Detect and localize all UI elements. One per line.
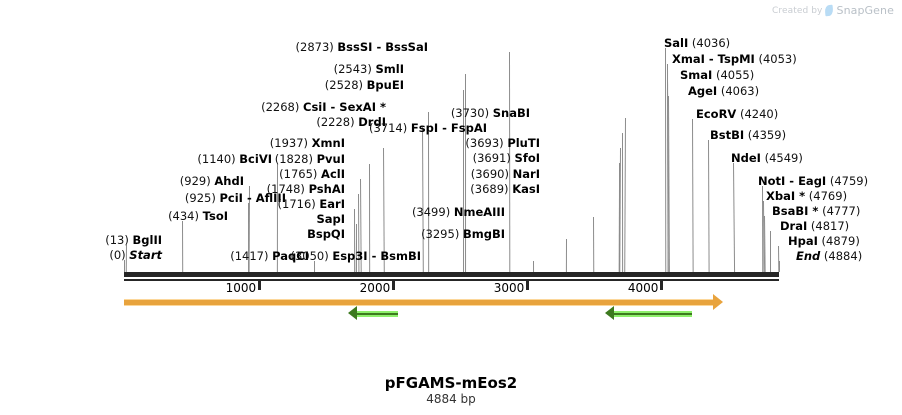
site-position: (3691) — [473, 151, 515, 165]
ruler-tick — [258, 281, 261, 290]
site-position: (4063) — [717, 84, 759, 98]
site-position: (4359) — [744, 128, 786, 142]
restriction-site-label[interactable]: BsaBI * (4777) — [772, 205, 860, 217]
watermark-prefix: Created by — [772, 6, 823, 16]
site-position: (3693) — [465, 136, 507, 150]
enzyme-name: AgeI — [688, 84, 717, 98]
leader-line — [708, 140, 710, 272]
enzyme-name: BpuEI — [367, 78, 404, 92]
restriction-site-label[interactable]: XmaI - TspMI (4053) — [672, 53, 797, 65]
restriction-site-label[interactable]: DraI (4817) — [780, 220, 849, 232]
enzyme-name: BssSI - BssSaI — [337, 40, 428, 54]
watermark-brand: SnapGene — [836, 4, 894, 17]
site-position: (3690) — [471, 167, 513, 181]
restriction-site-label[interactable]: NdeI (4549) — [731, 152, 803, 164]
ruler-tick-label: 3000 — [494, 281, 527, 295]
enzyme-name: DraI — [780, 219, 807, 233]
ruler-tick — [526, 281, 529, 290]
enzyme-name: SalI — [664, 36, 688, 50]
site-position: (3050) — [290, 249, 332, 263]
enzyme-name: XmaI - TspMI — [672, 52, 755, 66]
enzyme-name: EcoRV — [696, 107, 736, 121]
enzyme-name: Esp3I - BsmBI — [332, 249, 421, 263]
restriction-site-label[interactable]: NotI - EagI (4759) — [758, 175, 868, 187]
leader-line — [779, 261, 780, 272]
snapgene-leaf-icon — [825, 5, 834, 17]
enzyme-name: SmlI — [376, 62, 405, 76]
restriction-site-label[interactable]: (2543) SmlI — [0, 63, 404, 75]
plasmid-map-canvas: Created by SnapGene (0) Start(13) BglII(… — [0, 0, 902, 415]
restriction-site-label[interactable]: (2528) BpuEI — [0, 79, 404, 91]
enzyme-name: PluTI — [507, 136, 540, 150]
enzyme-name: BstBI — [710, 128, 744, 142]
enzyme-name: NdeI — [731, 151, 761, 165]
restriction-site-label[interactable]: SmaI (4055) — [680, 69, 754, 81]
enzyme-name: NmeAIII — [454, 205, 505, 219]
restriction-site-label[interactable]: SalI (4036) — [664, 37, 730, 49]
snapgene-watermark: Created by SnapGene — [772, 4, 894, 17]
restriction-site-label[interactable]: (3295) BmgBI — [0, 228, 505, 240]
plasmid-size-label: 4884 bp — [0, 392, 902, 406]
leader-line — [533, 261, 534, 272]
site-position: (4879) — [818, 234, 860, 248]
leader-line — [624, 118, 626, 272]
restriction-site-label[interactable]: (3050) Esp3I - BsmBI — [0, 250, 421, 262]
page-title: pFGAMS-mEos2 — [0, 374, 902, 392]
restriction-site-label[interactable]: (3689) KasI — [0, 183, 540, 195]
site-position: (3714) — [369, 121, 411, 135]
leader-line — [619, 148, 621, 272]
restriction-site-label[interactable]: XbaI * (4769) — [766, 190, 847, 202]
enzyme-name: SnaBI — [493, 106, 530, 120]
enzyme-name: XbaI * — [766, 189, 805, 203]
leader-line — [622, 133, 623, 272]
site-position: (3689) — [470, 182, 512, 196]
restriction-site-label[interactable]: BstBI (4359) — [710, 129, 786, 141]
ruler-tick — [392, 281, 395, 290]
enzyme-name: End — [796, 249, 820, 263]
restriction-site-label[interactable]: End (4884) — [796, 250, 862, 262]
cds-feature-1-arrowhead — [348, 306, 357, 320]
sequence-backbone — [124, 272, 779, 277]
restriction-site-label[interactable]: (2873) BssSI - BssSaI — [0, 41, 428, 53]
ruler-baseline — [124, 279, 779, 281]
site-position: (4549) — [761, 151, 803, 165]
site-position: (4777) — [818, 204, 860, 218]
leader-line — [566, 239, 567, 272]
ruler-tick-label: 4000 — [628, 281, 661, 295]
site-position: (4055) — [712, 68, 754, 82]
site-position: (4759) — [826, 174, 868, 188]
site-position: (3499) — [412, 205, 454, 219]
enzyme-name: NarI — [513, 167, 540, 181]
restriction-site-label[interactable]: (3730) SnaBI — [0, 107, 530, 119]
ruler-tick — [660, 281, 663, 290]
restriction-site-label[interactable]: (3714) FspI - FspAI — [0, 122, 487, 134]
site-position: (4884) — [820, 249, 862, 263]
cds-feature-2-arrowhead — [605, 306, 614, 320]
leader-line — [668, 96, 670, 272]
leader-line — [733, 163, 735, 272]
leader-line — [692, 119, 694, 272]
restriction-site-label[interactable]: (3691) SfoI — [0, 152, 540, 164]
enzyme-name: BmgBI — [463, 227, 505, 241]
site-position: (4053) — [755, 52, 797, 66]
site-position: (3730) — [451, 106, 493, 120]
enzyme-name: FspI - FspAI — [411, 121, 487, 135]
ruler-tick-label: 1000 — [226, 281, 259, 295]
backbone-feature-arrowhead — [713, 294, 723, 310]
restriction-site-label[interactable]: HpaI (4879) — [788, 235, 860, 247]
enzyme-name: HpaI — [788, 234, 818, 248]
site-position: (4769) — [805, 189, 847, 203]
leader-line — [764, 216, 766, 272]
restriction-site-label[interactable]: (3499) NmeAIII — [0, 206, 505, 218]
site-position: (4240) — [736, 107, 778, 121]
site-position: (2543) — [334, 62, 376, 76]
cds-feature-2[interactable] — [614, 311, 692, 317]
enzyme-name: SmaI — [680, 68, 712, 82]
ruler-tick-label: 2000 — [360, 281, 393, 295]
enzyme-name: KasI — [512, 182, 540, 196]
restriction-site-label[interactable]: (3690) NarI — [0, 168, 540, 180]
enzyme-name: SfoI — [515, 151, 540, 165]
restriction-site-label[interactable]: AgeI (4063) — [688, 85, 759, 97]
site-position: (2528) — [325, 78, 367, 92]
restriction-site-label[interactable]: EcoRV (4240) — [696, 108, 778, 120]
site-position: (4036) — [688, 36, 730, 50]
enzyme-name: NotI - EagI — [758, 174, 826, 188]
site-position: (3295) — [421, 227, 463, 241]
backbone-feature[interactable] — [124, 299, 713, 306]
leader-line — [770, 231, 771, 272]
site-position: (4817) — [807, 219, 849, 233]
enzyme-name: BsaBI * — [772, 204, 818, 218]
cds-feature-1[interactable] — [357, 311, 398, 317]
site-position: (2873) — [296, 40, 338, 54]
leader-line — [593, 217, 594, 272]
restriction-site-label[interactable]: (3693) PluTI — [0, 137, 540, 149]
